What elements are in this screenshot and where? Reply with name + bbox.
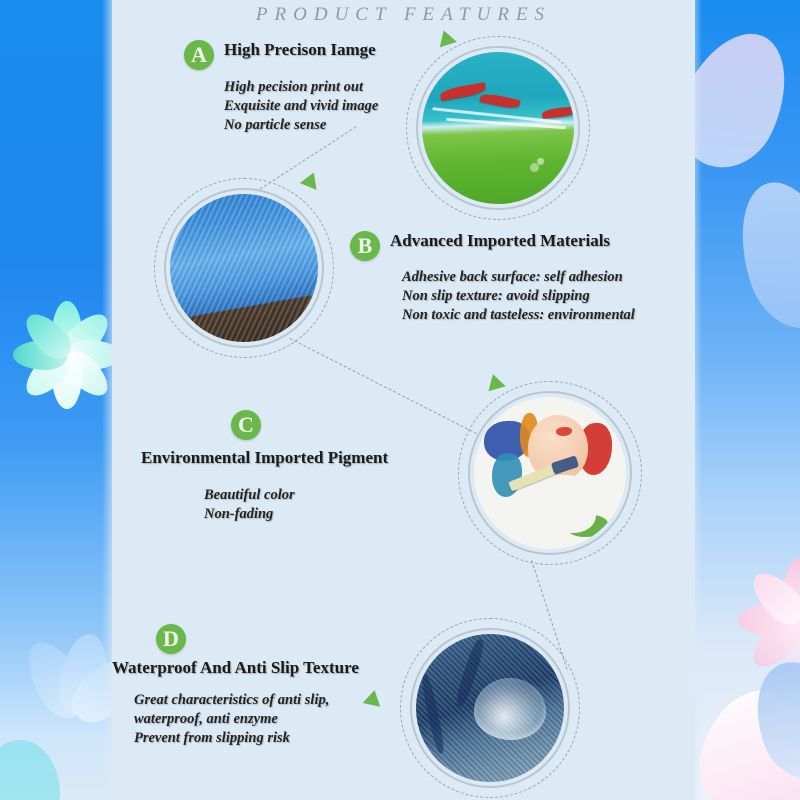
feature-line-c-2: Non-fading — [204, 505, 273, 524]
feature-line-a-3: No particle sense — [224, 116, 326, 135]
infographic-canvas: PRODUCT FEATURES A High Precison Iamge H… — [0, 0, 800, 800]
feature-line-d-1: Great characteristics of anti slip, — [134, 691, 329, 710]
feature-line-b-3: Non toxic and tasteless: environmental — [402, 306, 635, 325]
feature-b-arrow — [300, 169, 322, 190]
paint-splat-teal — [492, 453, 522, 497]
photo-printed-mat-fish-grass — [422, 52, 574, 204]
feature-line-a-1: High pecision print out — [224, 78, 363, 97]
feature-line-c-1: Beautiful color — [204, 486, 295, 505]
feature-heading-c: Environmental Imported Pigment — [141, 448, 388, 468]
feature-line-b-1: Adhesive back surface: self adhesion — [402, 268, 623, 287]
water-droplet — [474, 678, 546, 740]
fish-shape-3 — [542, 106, 574, 119]
right-decorative-border — [692, 0, 800, 800]
baby-body — [522, 475, 596, 533]
connector-b-to-c — [290, 338, 495, 443]
texture-streak-2 — [420, 674, 446, 754]
feature-a-arrow — [435, 28, 457, 48]
feature-line-d-2: waterproof, anti enzyme — [134, 710, 278, 729]
main-content-panel: PRODUCT FEATURES A High Precison Iamge H… — [112, 0, 695, 800]
photo-water-drop-texture — [416, 634, 564, 782]
feature-c-arrow — [484, 372, 505, 391]
feature-heading-b: Advanced Imported Materials — [390, 231, 610, 251]
feature-heading-d: Waterproof And Anti Slip Texture — [112, 658, 359, 678]
feature-line-b-2: Non slip texture: avoid slipping — [402, 287, 590, 306]
right-top-petal-a — [692, 16, 800, 183]
feature-line-a-2: Exquisite and vivid image — [224, 97, 378, 116]
feature-heading-a: High Precison Iamge — [224, 40, 376, 60]
fish-shape-2 — [479, 92, 520, 110]
feature-badge-a: A — [184, 40, 214, 70]
right-top-petal-b — [723, 169, 800, 340]
feature-line-d-3: Prevent from slipping risk — [134, 729, 290, 748]
feature-d-arrow — [363, 688, 384, 706]
photo-blue-ribbed-fabric — [170, 194, 318, 342]
photo-baby-painting — [474, 397, 626, 549]
feature-badge-b: B — [350, 231, 380, 261]
page-title: PRODUCT FEATURES — [112, 4, 695, 26]
left-decorative-border — [0, 0, 118, 800]
feature-badge-c: C — [231, 410, 261, 440]
feature-badge-d: D — [156, 624, 186, 654]
